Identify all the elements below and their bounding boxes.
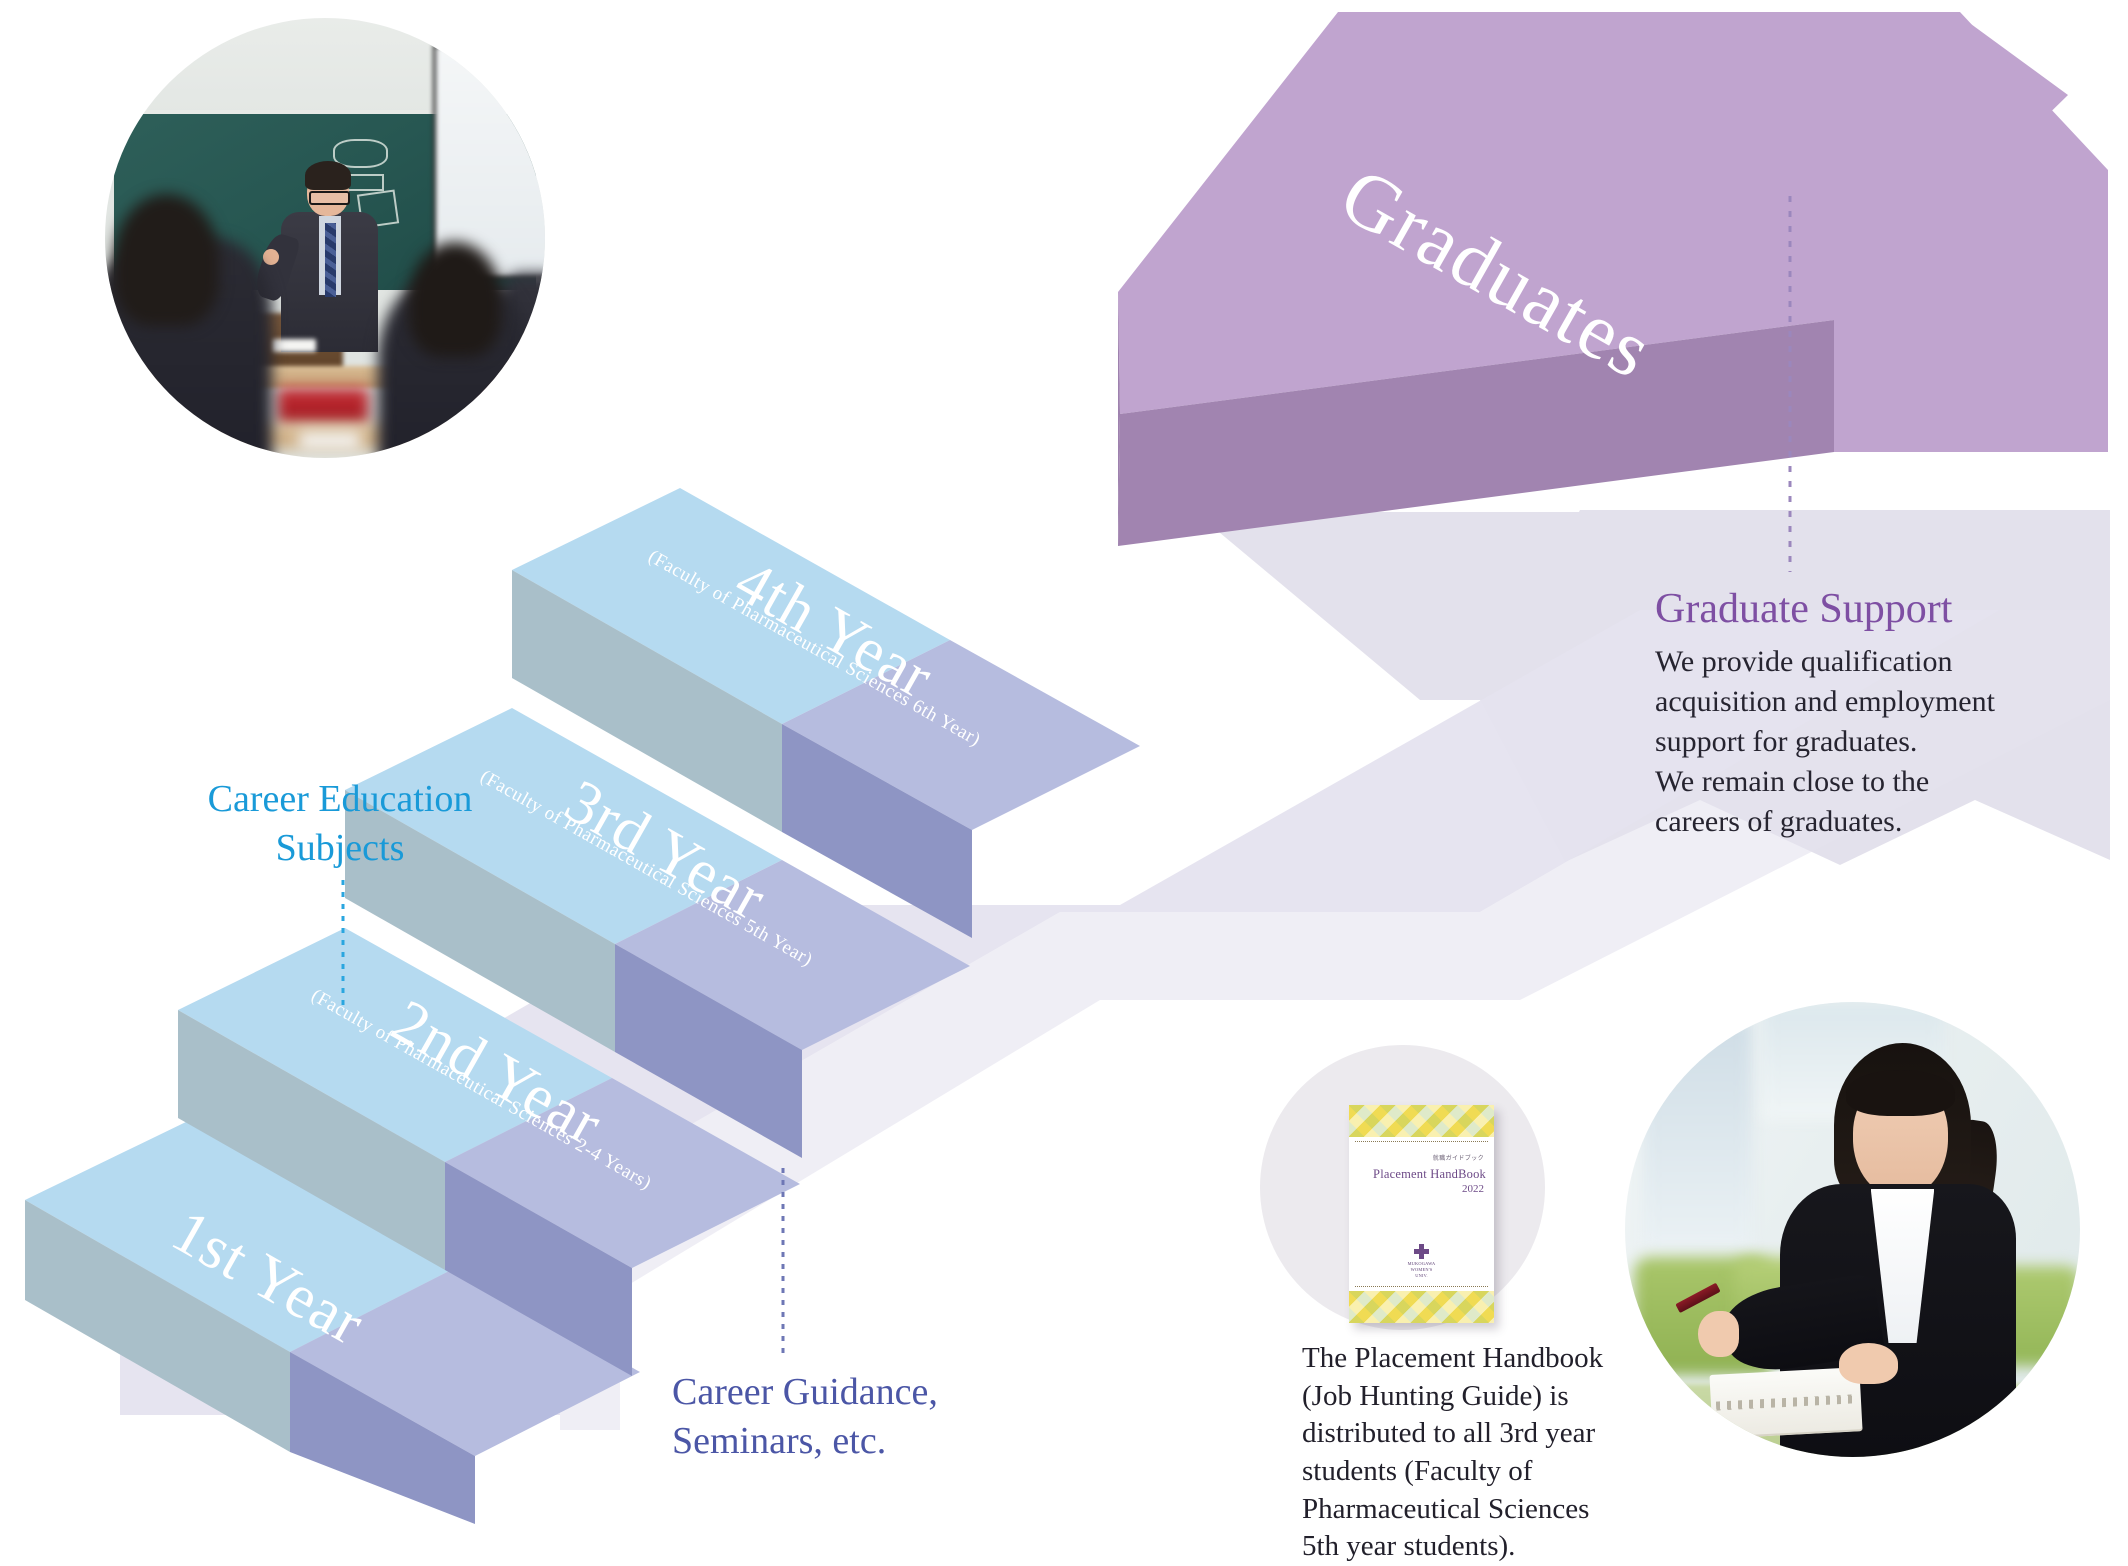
handbook-pattern-top xyxy=(1349,1105,1494,1137)
handbook-logo-text: MUKOGAWA WOMEN'S UNIV. xyxy=(1405,1261,1439,1279)
graduate-support-block: Graduate Support We provide qualificatio… xyxy=(1655,586,2015,842)
desk-paper-1 xyxy=(272,339,316,352)
student-hand-resting xyxy=(1839,1343,1898,1384)
handbook-cover-kicker: 就職ガイドブック xyxy=(1433,1153,1484,1162)
graduate-support-line4: We remain close to the xyxy=(1655,762,2015,802)
placement-handbook-image: 就職ガイドブック Placement HandBook 2022 MUKOGAW… xyxy=(1315,1110,1525,1340)
classroom-photo xyxy=(105,18,545,458)
university-crest-icon xyxy=(1414,1244,1429,1259)
handbook-caption: The Placement Handbook (Job Hunting Guid… xyxy=(1302,1340,1622,1566)
teacher-hand xyxy=(263,249,279,265)
graduate-support-line3: support for graduates. xyxy=(1655,722,2015,762)
window-left xyxy=(1643,1020,1752,1248)
handbook-rule-top xyxy=(1355,1141,1488,1142)
student-middle-hair xyxy=(409,242,501,356)
graduate-support-body: We provide qualification acquisition and… xyxy=(1655,642,2015,841)
career-education-line1: Career Education xyxy=(170,775,510,824)
handbook-caption-line3: distributed to all 3rd year xyxy=(1302,1415,1622,1453)
student-left-hair xyxy=(114,194,220,326)
graduate-support-line2: acquisition and employment xyxy=(1655,682,2015,722)
student-fringe xyxy=(1846,1070,1955,1116)
handbook-cover: 就職ガイドブック Placement HandBook 2022 MUKOGAW… xyxy=(1349,1105,1494,1323)
handbook-logo: MUKOGAWA WOMEN'S UNIV. xyxy=(1405,1244,1439,1279)
handbook-rule-bottom xyxy=(1355,1286,1488,1287)
red-bag-1 xyxy=(277,388,369,428)
handbook-caption-line2: (Job Hunting Guide) is xyxy=(1302,1378,1622,1416)
handbook-caption-line5: Pharmaceutical Sciences xyxy=(1302,1491,1622,1529)
teacher-hair xyxy=(305,161,352,190)
career-guidance-label: Career Guidance, Seminars, etc. xyxy=(672,1368,1002,1465)
handbook-pattern-bottom xyxy=(1349,1291,1494,1323)
front-desk-paper xyxy=(299,432,361,450)
handbook-caption-line6: 5th year students). xyxy=(1302,1528,1622,1566)
handbook-caption-line1: The Placement Handbook xyxy=(1302,1340,1622,1378)
career-education-line2: Subjects xyxy=(170,824,510,873)
student-hand-with-pen xyxy=(1698,1311,1739,1357)
student-photo-content xyxy=(1625,1002,2080,1457)
handbook-cover-year: 2022 xyxy=(1462,1183,1484,1195)
teacher-tie xyxy=(325,223,336,298)
handbook-caption-line4: students (Faculty of xyxy=(1302,1453,1622,1491)
career-education-label: Career Education Subjects xyxy=(170,775,510,872)
handbook-cover-title: Placement HandBook xyxy=(1349,1167,1486,1182)
infographic-canvas: 1st Year 2nd Year (Faculty of Pharmaceut… xyxy=(0,0,2128,1524)
classroom-photo-content xyxy=(105,18,545,458)
graduate-support-line5: careers of graduates. xyxy=(1655,802,2015,842)
graduate-support-title: Graduate Support xyxy=(1655,586,2015,632)
career-guidance-line1: Career Guidance, xyxy=(672,1368,1002,1417)
career-guidance-line2: Seminars, etc. xyxy=(672,1417,1002,1466)
graduate-support-line1: We provide qualification xyxy=(1655,642,2015,682)
teacher-glasses xyxy=(309,191,350,205)
student-photo xyxy=(1625,1002,2080,1457)
